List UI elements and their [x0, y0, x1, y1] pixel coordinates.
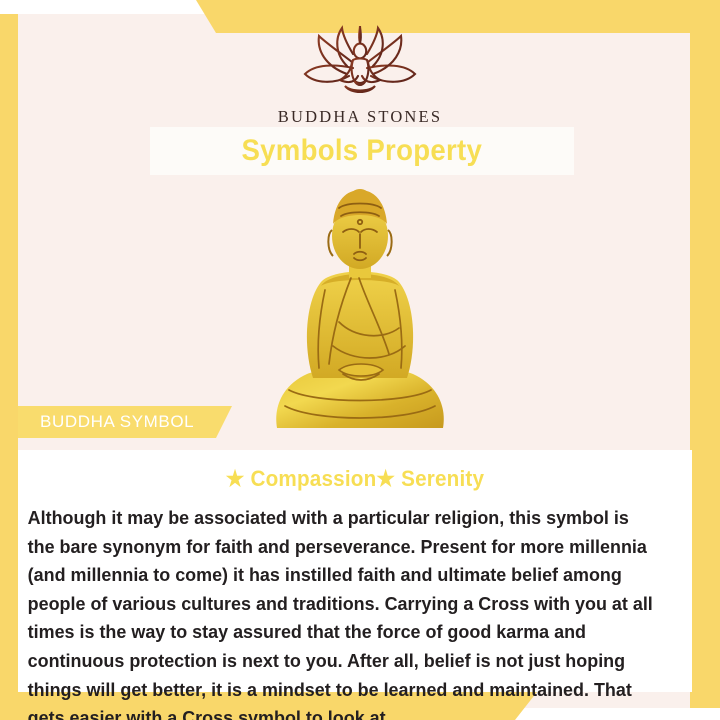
poster-canvas: BUDDHA STONES Symbols Property: [0, 0, 720, 720]
content-panel: ★ Compassion★ Serenity Although it may b…: [18, 450, 692, 692]
content-paragraph: Although it may be associated with a par…: [18, 492, 668, 720]
brand-name: BUDDHA STONES: [0, 107, 720, 127]
title-card: Symbols Property: [150, 127, 574, 175]
page-title: Symbols Property: [242, 134, 483, 168]
brand-logo: BUDDHA STONES: [0, 24, 720, 127]
seated-golden-buddha-statue: [255, 178, 465, 434]
category-banner-label: BUDDHA SYMBOL: [18, 412, 194, 432]
category-banner: BUDDHA SYMBOL: [18, 406, 232, 438]
content-subheading: ★ Compassion★ Serenity: [38, 450, 672, 492]
lotus-meditation-figure-icon: [295, 24, 425, 102]
